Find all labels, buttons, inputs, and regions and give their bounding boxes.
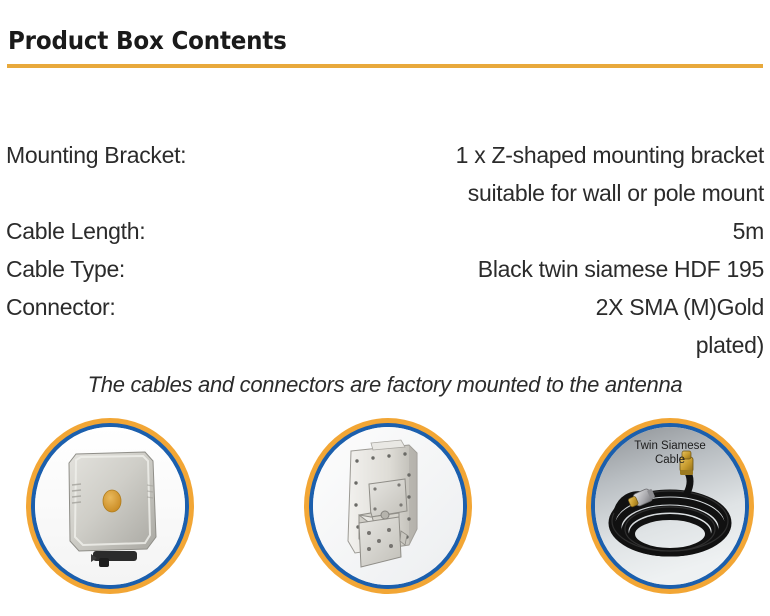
photo-inner-twin-siamese-cable: Twin Siamese Cable	[595, 427, 745, 585]
spec-row: Cable Type: Black twin siamese HDF 195	[0, 250, 770, 288]
spec-label-connector: Connector:	[6, 288, 116, 326]
spec-value-connector: 2X SMA (M)Gold plated)	[116, 288, 764, 364]
antenna-rear-with-bracket-icon	[313, 427, 463, 585]
photo-inner-antenna-rear-bracket	[313, 427, 463, 585]
spec-row: Cable Length: 5m	[0, 212, 770, 250]
twin-siamese-cable-icon	[595, 427, 745, 585]
spec-label-cable-type: Cable Type:	[6, 250, 125, 288]
spec-list: Mounting Bracket: 1 x Z-shaped mounting …	[0, 136, 770, 364]
photo-circle-antenna-rear-bracket	[304, 418, 472, 594]
spec-value-mounting-bracket: 1 x Z-shaped mounting bracket suitable f…	[186, 136, 764, 212]
factory-mounted-caption: The cables and connectors are factory mo…	[0, 372, 770, 398]
photo-inner-panel-antenna-front	[35, 427, 185, 585]
photo-circle-panel-antenna-front	[26, 418, 194, 594]
panel-antenna-front-icon	[35, 427, 185, 585]
spec-row: Mounting Bracket: 1 x Z-shaped mounting …	[0, 136, 770, 212]
page-title: Product Box Contents	[8, 26, 287, 55]
product-photo-strip: Twin Siamese Cable	[0, 418, 770, 598]
spec-row: Connector: 2X SMA (M)Gold plated)	[0, 288, 770, 364]
spec-value-cable-type: Black twin siamese HDF 195	[125, 250, 764, 288]
title-underline-rule	[7, 64, 763, 68]
spec-value-cable-length: 5m	[145, 212, 764, 250]
photo-circle-twin-siamese-cable: Twin Siamese Cable	[586, 418, 754, 594]
spec-label-cable-length: Cable Length:	[6, 212, 145, 250]
spec-label-mounting-bracket: Mounting Bracket:	[6, 136, 186, 174]
